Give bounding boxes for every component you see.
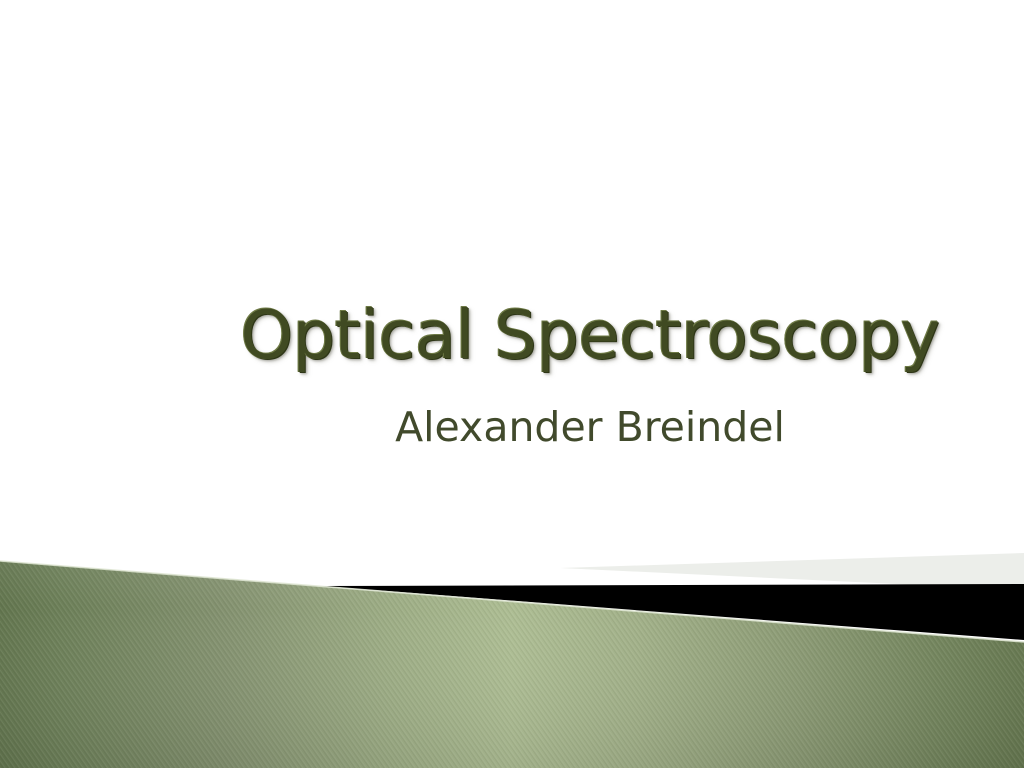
green-band <box>0 520 1024 768</box>
banner-svg <box>0 520 1024 768</box>
slide-title: Optical Spectroscopy <box>60 300 1024 370</box>
bottom-decoration-graphic <box>0 520 1024 768</box>
presentation-slide: Optical Spectroscopy Alexander Breindel <box>0 0 1024 768</box>
slide-subtitle: Alexander Breindel <box>60 405 1024 450</box>
title-text-block: Optical Spectroscopy Alexander Breindel <box>0 0 1024 540</box>
